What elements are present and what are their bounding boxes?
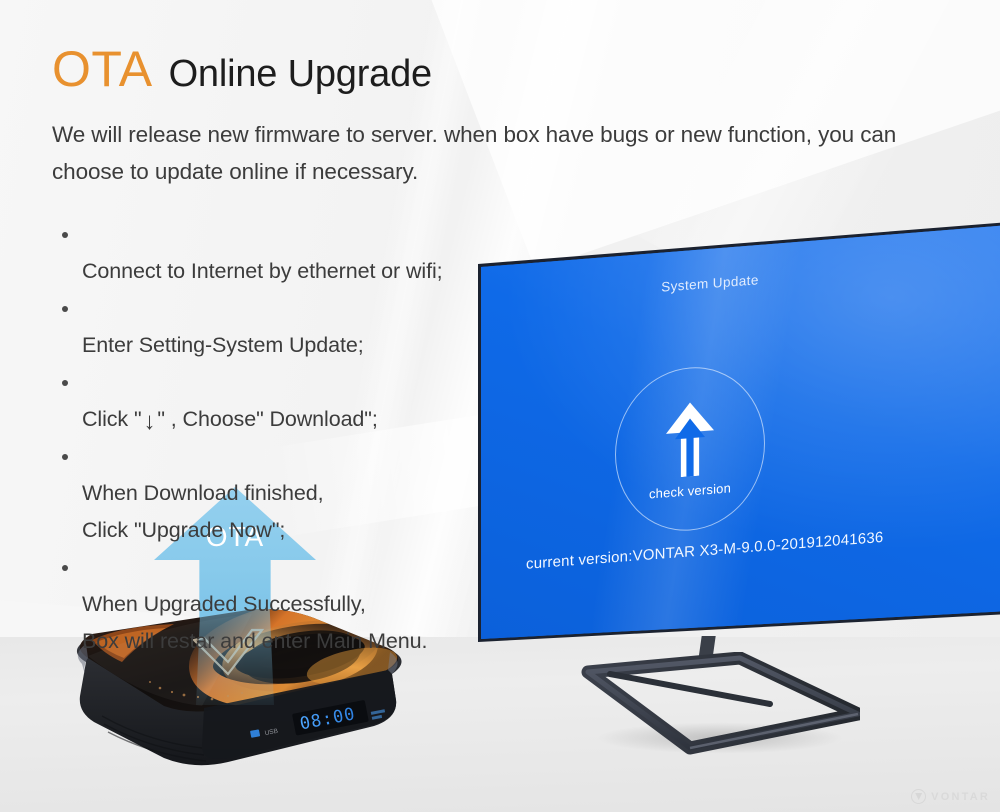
step-text: Connect to Internet by ethernet or wifi; (82, 259, 443, 283)
step-click-download: Click "↓" , Choose" Download"; (52, 364, 932, 438)
arrow-down-icon: ↓ (142, 410, 158, 434)
step-enter-setting: Enter Setting-System Update; (52, 290, 932, 364)
step-upgraded: When Upgraded Successfully, Box will res… (52, 549, 932, 660)
watermark: VONTAR (911, 789, 990, 804)
vontar-logo-icon (911, 789, 926, 804)
steps-list: Connect to Internet by ethernet or wifi;… (52, 216, 932, 660)
step-text: When Upgraded Successfully, Box will res… (82, 592, 427, 653)
text-block: OTAOnline Upgrade We will release new fi… (52, 44, 932, 660)
step-connect: Connect to Internet by ethernet or wifi; (52, 216, 932, 290)
step-download-finished: When Download finished, Click "Upgrade N… (52, 438, 932, 549)
page-title: OTAOnline Upgrade (52, 44, 932, 94)
intro-paragraph: We will release new firmware to server. … (52, 116, 932, 190)
promo-graphic: System Update check version current vers… (0, 0, 1000, 812)
tv-stand-base (570, 652, 860, 767)
step-text: Enter Setting-System Update; (82, 333, 364, 357)
step-text: When Download finished, Click "Upgrade N… (82, 481, 324, 542)
watermark-text: VONTAR (931, 791, 990, 803)
step-text-suffix: " , Choose" Download"; (157, 407, 377, 431)
page-title-rest: Online Upgrade (169, 53, 432, 95)
step-text-prefix: Click " (82, 407, 142, 431)
page-title-accent: OTA (52, 41, 153, 97)
